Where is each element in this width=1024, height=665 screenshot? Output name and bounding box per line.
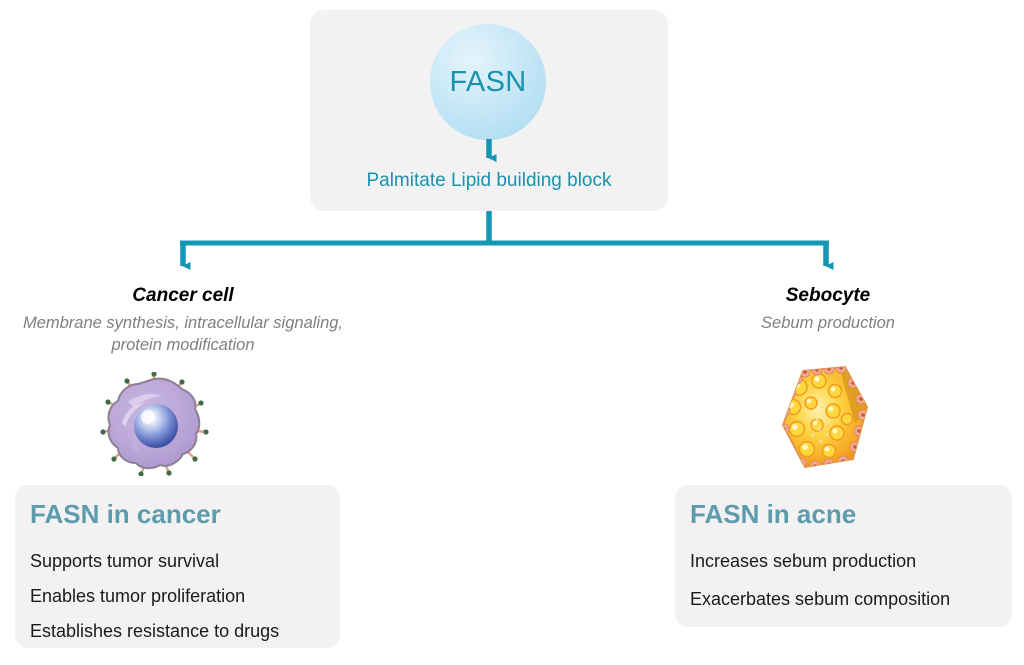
outcome-heading-cancer: FASN in cancer — [30, 499, 221, 530]
outcome-item-cancer-0: Supports tumor survival — [30, 551, 219, 572]
fasn-node-label: FASN — [450, 68, 527, 97]
branch-title-cancer-cell: Cancer cell — [23, 285, 343, 307]
branch-subtitle-cancer-cell: Membrane synthesis, intracellular signal… — [13, 312, 353, 356]
sebocyte-illustration — [775, 363, 875, 475]
cancer-cell-illustration — [98, 372, 210, 476]
outcome-heading-acne: FASN in acne — [690, 499, 856, 530]
diagram-canvas: FASN Palmitate Lipid building block Canc… — [0, 0, 1024, 665]
outcome-item-cancer-2: Establishes resistance to drugs — [30, 621, 279, 642]
branch-subtitle-sebocyte: Sebum production — [672, 312, 984, 334]
branch-title-sebocyte: Sebocyte — [672, 285, 984, 307]
outcome-item-acne-0: Increases sebum production — [690, 551, 916, 572]
palmitate-label: Palmitate Lipid building block — [310, 170, 668, 192]
fasn-node: FASN — [430, 24, 546, 140]
outcome-item-acne-1: Exacerbates sebum composition — [690, 589, 950, 610]
outcome-item-cancer-1: Enables tumor proliferation — [30, 586, 245, 607]
